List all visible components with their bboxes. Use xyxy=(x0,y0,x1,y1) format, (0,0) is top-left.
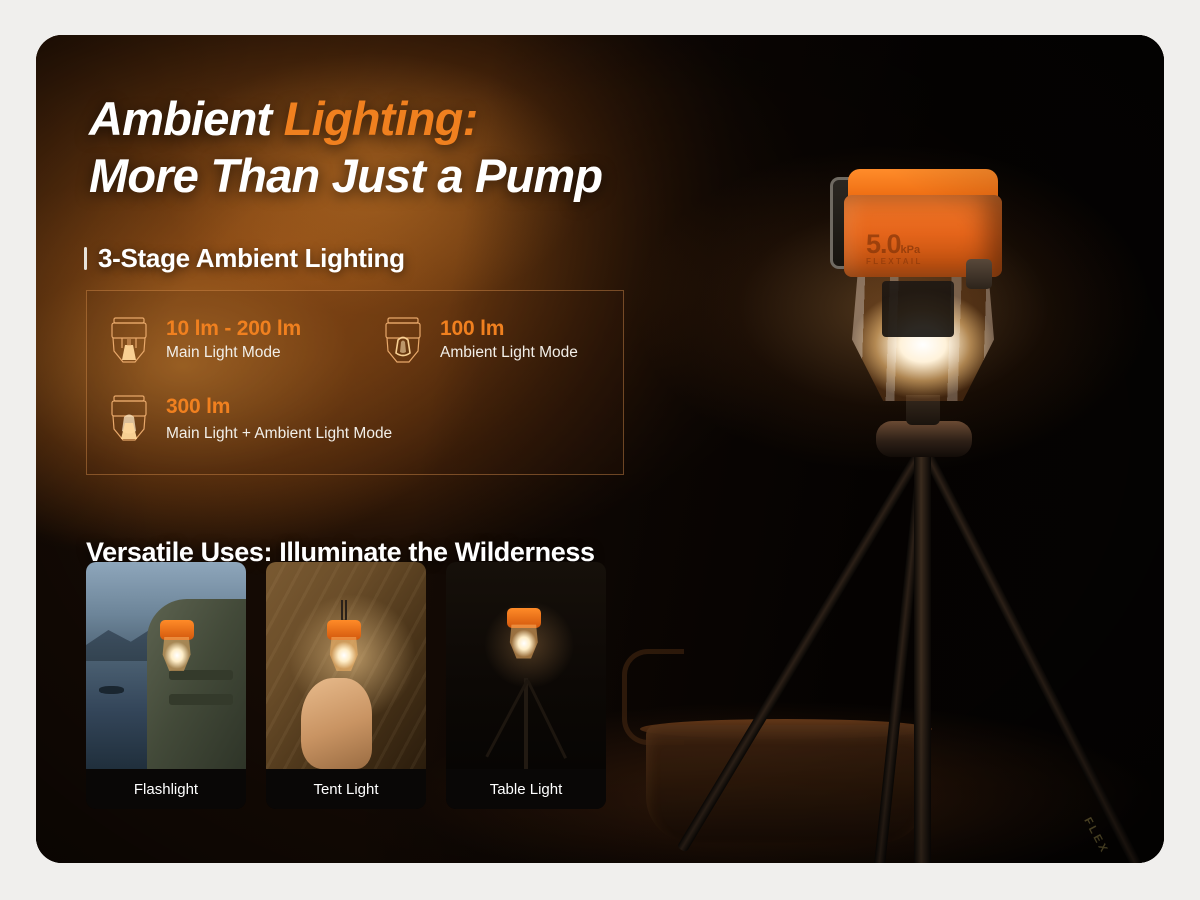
spec-lumens: 100 lm xyxy=(440,317,578,341)
card-caption: Table Light xyxy=(446,769,606,809)
spec-mode-name: Main Light Mode xyxy=(166,344,301,362)
lantern-combined-light-icon xyxy=(105,393,153,455)
accent-tick-mark xyxy=(84,247,87,270)
lantern-ambient-light-icon xyxy=(379,315,427,377)
spec-item-combined-light: 300 lm Main Light + Ambient Light Mode xyxy=(105,393,392,455)
spec-lumens: 300 lm xyxy=(166,395,392,419)
mini-lantern-glass xyxy=(510,625,538,659)
backpack-strap xyxy=(169,694,233,704)
lantern-main-light-icon xyxy=(105,315,153,377)
spec-item-main-light: 10 lm - 200 lm Main Light Mode xyxy=(105,315,301,377)
card-caption: Tent Light xyxy=(266,769,426,809)
mini-lantern-flashlight xyxy=(160,620,194,678)
lighting-modes-spec-box: 10 lm - 200 lm Main Light Mode xyxy=(86,290,624,475)
headline-line2: More Than Just a Pump xyxy=(89,149,602,202)
mini-lantern-tent xyxy=(327,620,361,678)
mini-lantern-table xyxy=(507,608,541,666)
page-title: Ambient Lighting: More Than Just a Pump xyxy=(89,90,779,205)
mini-lantern-glass xyxy=(163,637,191,671)
subheading: 3-Stage Ambient Lighting xyxy=(98,243,405,274)
card-photo-flashlight xyxy=(86,562,246,769)
subheading-row: 3-Stage Ambient Lighting xyxy=(84,243,405,274)
headline-line1-accent: Lighting: xyxy=(284,92,478,145)
spec-mode-name: Main Light + Ambient Light Mode xyxy=(166,425,392,443)
spec-lumens: 10 lm - 200 lm xyxy=(166,317,301,341)
use-case-card-table-light[interactable]: Table Light xyxy=(446,562,606,809)
use-case-card-list: Flashlight Tent Light xyxy=(86,562,656,812)
use-case-card-tent-light[interactable]: Tent Light xyxy=(266,562,426,809)
card-photo-table-light xyxy=(446,562,606,769)
content-column: Ambient Lighting: More Than Just a Pump … xyxy=(36,35,796,863)
mini-lantern-glass xyxy=(330,637,358,671)
use-case-card-flashlight[interactable]: Flashlight xyxy=(86,562,246,809)
card-photo-tent-light xyxy=(266,562,426,769)
spec-mode-name: Ambient Light Mode xyxy=(440,344,578,362)
card-caption: Flashlight xyxy=(86,769,246,809)
spec-item-ambient-light: 100 lm Ambient Light Mode xyxy=(379,315,578,377)
headline-line1-part1: Ambient xyxy=(89,92,284,145)
mini-lantern-hook xyxy=(341,600,347,622)
mini-tripod-column xyxy=(524,678,528,769)
promo-card: 5.0kPa FLEXTAIL FLEX Ambient Lighting: M… xyxy=(36,35,1164,863)
hand-holding-lantern xyxy=(301,678,371,769)
